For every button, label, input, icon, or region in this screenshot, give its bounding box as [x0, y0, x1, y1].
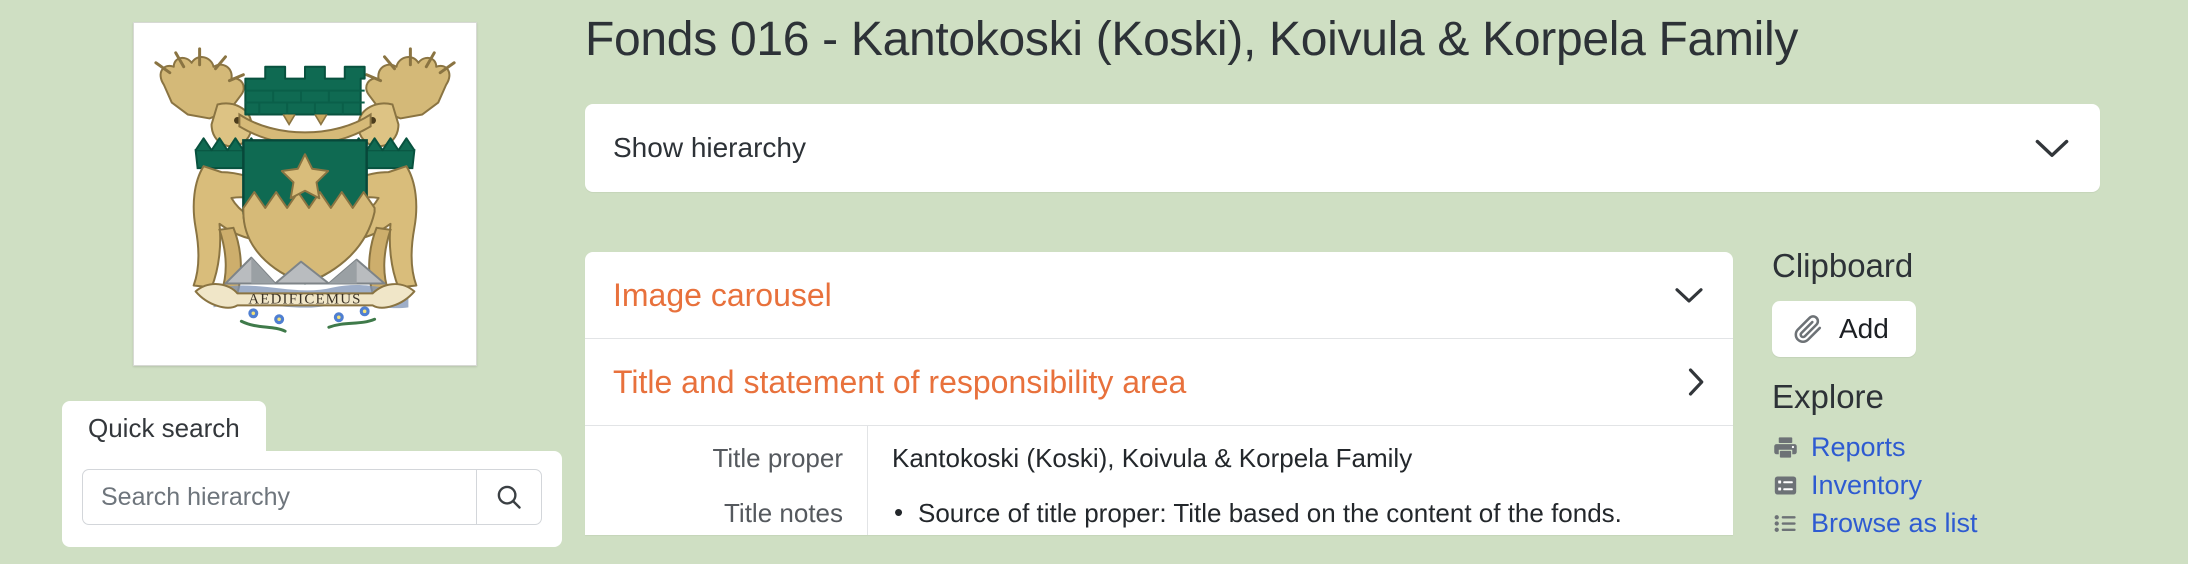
svg-text:AEDIFICEMUS: AEDIFICEMUS [248, 291, 361, 307]
table-row: Title proper Kantokoski (Koski), Koivula… [585, 426, 1733, 481]
clipboard-add-button[interactable]: Add [1772, 301, 1916, 357]
explore-section: Explore Reports [1772, 378, 1978, 542]
search-icon [494, 482, 524, 512]
search-input-group [82, 469, 542, 525]
coat-of-arms-icon: AEDIFICEMUS [134, 23, 476, 365]
quick-search-tab-label: Quick search [88, 413, 240, 443]
accordion-header-title-statement[interactable]: Title and statement of responsibility ar… [585, 339, 1733, 426]
explore-item-reports[interactable]: Reports [1772, 428, 1978, 466]
metadata-value: Kantokoski (Koski), Koivula & Korpela Fa… [867, 426, 1733, 481]
metadata-value: Source of title proper: Title based on t… [867, 481, 1733, 536]
quick-search-panel: Quick search [62, 401, 562, 547]
accordion-title: Image carousel [613, 277, 832, 314]
clipboard-heading: Clipboard [1772, 247, 1916, 285]
accordion-header-image-carousel[interactable]: Image carousel [585, 252, 1733, 339]
main-column: Fonds 016 - Kantokoski (Koski), Koivula … [585, 0, 1760, 564]
quick-search-tab[interactable]: Quick search [62, 401, 266, 453]
left-column: AEDIFICEMUS Quick search [0, 0, 585, 564]
clipboard-section: Clipboard Add [1772, 247, 1916, 357]
accordion-title: Title and statement of responsibility ar… [613, 364, 1186, 401]
paperclip-icon [1793, 313, 1825, 345]
information-accordion: Image carousel Title and statement of re… [585, 252, 1733, 535]
metadata-label: Title notes [585, 481, 867, 530]
explore-heading: Explore [1772, 378, 1978, 416]
list-bullet-icon [1772, 510, 1799, 537]
chevron-down-icon [1671, 283, 1707, 307]
search-input[interactable] [82, 469, 476, 525]
metadata-table: Title proper Kantokoski (Koski), Koivula… [585, 426, 1733, 535]
page-title: Fonds 016 - Kantokoski (Koski), Koivula … [585, 12, 1798, 67]
explore-item-inventory[interactable]: Inventory [1772, 466, 1978, 504]
list-filled-icon [1772, 472, 1799, 499]
page-root: AEDIFICEMUS Quick search [0, 0, 2188, 564]
explore-list: Reports Inventory [1772, 428, 1978, 542]
explore-link-label[interactable]: Reports [1811, 432, 1906, 463]
explore-item-browse-as-list[interactable]: Browse as list [1772, 504, 1978, 542]
printer-icon [1772, 434, 1799, 461]
explore-link-label[interactable]: Inventory [1811, 470, 1922, 501]
right-sidebar: Clipboard Add Explore [1768, 0, 2188, 564]
institution-logo-card[interactable]: AEDIFICEMUS [133, 22, 477, 366]
chevron-right-icon [1683, 364, 1707, 400]
metadata-label: Title proper [585, 426, 867, 475]
show-hierarchy-label: Show hierarchy [613, 132, 806, 164]
search-submit-button[interactable] [476, 469, 542, 525]
clipboard-add-label: Add [1839, 313, 1889, 345]
table-row: Title notes Source of title proper: Titl… [585, 481, 1733, 536]
explore-link-label[interactable]: Browse as list [1811, 508, 1978, 539]
quick-search-body [62, 451, 562, 547]
list-item: Source of title proper: Title based on t… [892, 497, 1709, 530]
metadata-value-list: Source of title proper: Title based on t… [892, 497, 1709, 530]
